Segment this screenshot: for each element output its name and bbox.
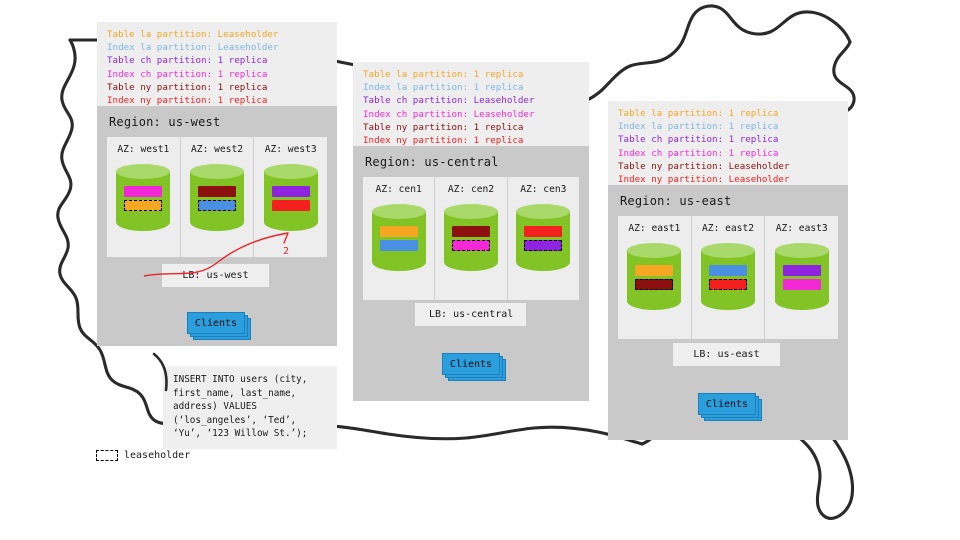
clients-us-east[interactable]: Clients [698,393,758,417]
replica-bar-leaseholder [452,240,490,251]
cylinder-top [190,164,244,179]
replica-bars [264,186,318,214]
database-cylinder-icon [372,204,426,278]
replica-bar [783,279,821,290]
sql-callout-tail [150,352,172,394]
az-label: AZ: east1 [618,223,691,234]
cylinder-top [264,164,318,179]
cylinder-top [701,243,755,258]
replica-bars [775,265,829,293]
az-cell-cen1[interactable]: AZ: cen1 [363,177,435,300]
az-strip-us-central: AZ: cen1AZ: cen2AZ: cen3 [363,177,579,300]
replica-bar [124,186,162,197]
replica-bars [701,265,755,293]
step-2-label: 2 [283,246,289,257]
region-us-east: Table la partition: 1 replicaIndex la pa… [608,101,848,440]
database-cylinder-icon [516,204,570,278]
leaseholder-swatch-icon [96,450,118,461]
az-label: AZ: west3 [254,144,327,155]
replica-bar [783,265,821,276]
replica-bars [372,226,426,254]
legend-line-4: Table ny partition: 1 replica [363,121,579,134]
legend-line-2: Table ch partition: 1 replica [107,54,327,67]
replica-bar [272,186,310,197]
clients-sheet-front: Clients [442,353,500,375]
az-cell-cen3[interactable]: AZ: cen3 [508,177,579,300]
legend-line-3: Index ch partition: 1 replica [618,147,838,160]
az-label: AZ: west2 [181,144,254,155]
cylinder-top [444,204,498,219]
az-label: AZ: west1 [107,144,180,155]
replica-bars [190,186,244,214]
replica-bars [444,226,498,254]
legend-line-3: Index ch partition: Leaseholder [363,108,579,121]
lb-box-us-east[interactable]: LB: us-east [673,343,780,366]
cylinder-top [372,204,426,219]
legend-line-1: Index la partition: 1 replica [618,120,838,133]
clients-label-us-west: Clients [195,318,237,329]
clients-us-west[interactable]: Clients [187,312,247,336]
legend-us-east: Table la partition: 1 replicaIndex la pa… [608,101,848,185]
az-label: AZ: cen1 [363,184,434,195]
legend-line-2: Table ch partition: Leaseholder [363,94,579,107]
region-title-us-east: Region: us-east [608,185,848,208]
replica-bar-leaseholder [709,279,747,290]
replica-bar [709,265,747,276]
legend-line-0: Table la partition: 1 replica [363,68,579,81]
legend-us-central: Table la partition: 1 replicaIndex la pa… [353,62,589,146]
database-cylinder-icon [701,243,755,317]
replica-bars [627,265,681,293]
cylinder-top [516,204,570,219]
replica-bar-leaseholder [198,200,236,211]
replica-bar [635,265,673,276]
region-title-us-west: Region: us-west [97,106,337,129]
az-cell-east1[interactable]: AZ: east1 [618,216,692,339]
replica-bar-leaseholder [524,240,562,251]
replica-bar [524,226,562,237]
clients-sheet-front: Clients [187,312,245,334]
az-label: AZ: east3 [765,223,838,234]
replica-bar [380,226,418,237]
legend-us-west: Table la partition: LeaseholderIndex la … [97,22,337,106]
legend-line-2: Table ch partition: 1 replica [618,133,838,146]
legend-line-3: Index ch partition: 1 replica [107,68,327,81]
replica-bar-leaseholder [124,200,162,211]
replica-bars [516,226,570,254]
database-cylinder-icon [627,243,681,317]
diagram-canvas: Table la partition: LeaseholderIndex la … [0,0,960,540]
region-us-central: Table la partition: 1 replicaIndex la pa… [353,62,589,401]
replica-bars [116,186,170,214]
replica-bar [380,240,418,251]
cylinder-top [775,243,829,258]
leaseholder-key: leaseholder [96,450,190,461]
lb-box-us-central[interactable]: LB: us-central [415,303,526,326]
leaseholder-key-label: leaseholder [124,450,190,461]
legend-line-4: Table ny partition: Leaseholder [618,160,838,173]
az-cell-cen2[interactable]: AZ: cen2 [435,177,507,300]
region-us-west: Table la partition: LeaseholderIndex la … [97,22,337,346]
az-label: AZ: east2 [692,223,765,234]
az-cell-east2[interactable]: AZ: east2 [692,216,766,339]
cylinder-top [627,243,681,258]
legend-line-1: Index la partition: 1 replica [363,81,579,94]
legend-line-4: Table ny partition: 1 replica [107,81,327,94]
replica-bar-leaseholder [635,279,673,290]
database-cylinder-icon [444,204,498,278]
region-title-us-central: Region: us-central [353,146,589,169]
az-label: AZ: cen3 [508,184,579,195]
clients-label-us-central: Clients [450,359,492,370]
cylinder-top [116,164,170,179]
clients-label-us-east: Clients [706,399,748,410]
legend-line-0: Table la partition: Leaseholder [107,28,327,41]
sql-callout: INSERT INTO users (city, first_name, las… [163,366,337,449]
az-label: AZ: cen2 [435,184,506,195]
replica-bar [272,200,310,211]
replica-bar [452,226,490,237]
clients-us-central[interactable]: Clients [442,353,502,377]
clients-sheet-front: Clients [698,393,756,415]
replica-bar [198,186,236,197]
az-strip-us-east: AZ: east1AZ: east2AZ: east3 [618,216,838,339]
legend-line-0: Table la partition: 1 replica [618,107,838,120]
legend-line-1: Index la partition: Leaseholder [107,41,327,54]
database-cylinder-icon [775,243,829,317]
az-cell-east3[interactable]: AZ: east3 [765,216,838,339]
